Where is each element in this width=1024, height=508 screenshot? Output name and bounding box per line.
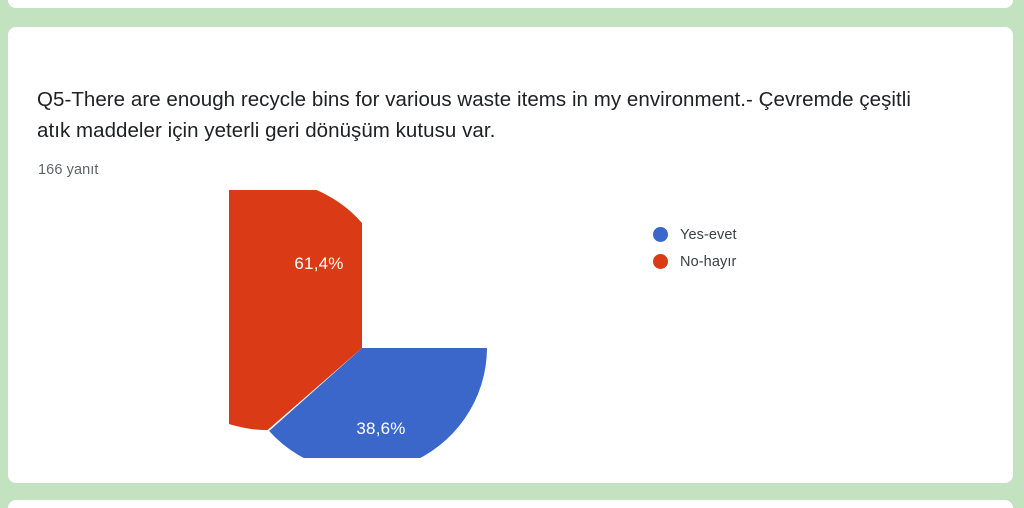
pie-chart-svg: 61,4% 38,6% bbox=[229, 190, 495, 458]
legend-color-dot-icon bbox=[653, 227, 668, 242]
survey-results-page: Q5-There are enough recycle bins for var… bbox=[0, 0, 1024, 508]
legend-item-yes-evet: Yes-evet bbox=[653, 221, 737, 248]
legend-color-dot-icon bbox=[653, 254, 668, 269]
pie-slice-yes-evet bbox=[269, 348, 487, 458]
question-result-card: Q5-There are enough recycle bins for var… bbox=[8, 27, 1013, 483]
page-title: Q5-There are enough recycle bins for var… bbox=[37, 84, 922, 146]
legend-item-no-hayir: No-hayır bbox=[653, 248, 737, 275]
pie-slice-no-hayir bbox=[229, 190, 362, 430]
legend-label-no-hayir: No-hayır bbox=[680, 254, 736, 270]
chart-legend: Yes-evet No-hayır bbox=[653, 221, 737, 275]
pie-label-yes-evet: 38,6% bbox=[356, 419, 405, 438]
legend-label-yes-evet: Yes-evet bbox=[680, 227, 737, 243]
next-question-card bbox=[8, 500, 1013, 508]
previous-question-card bbox=[8, 0, 1013, 8]
pie-label-no-hayir: 61,4% bbox=[294, 254, 343, 273]
response-count-label: 166 yanıt bbox=[38, 160, 99, 180]
